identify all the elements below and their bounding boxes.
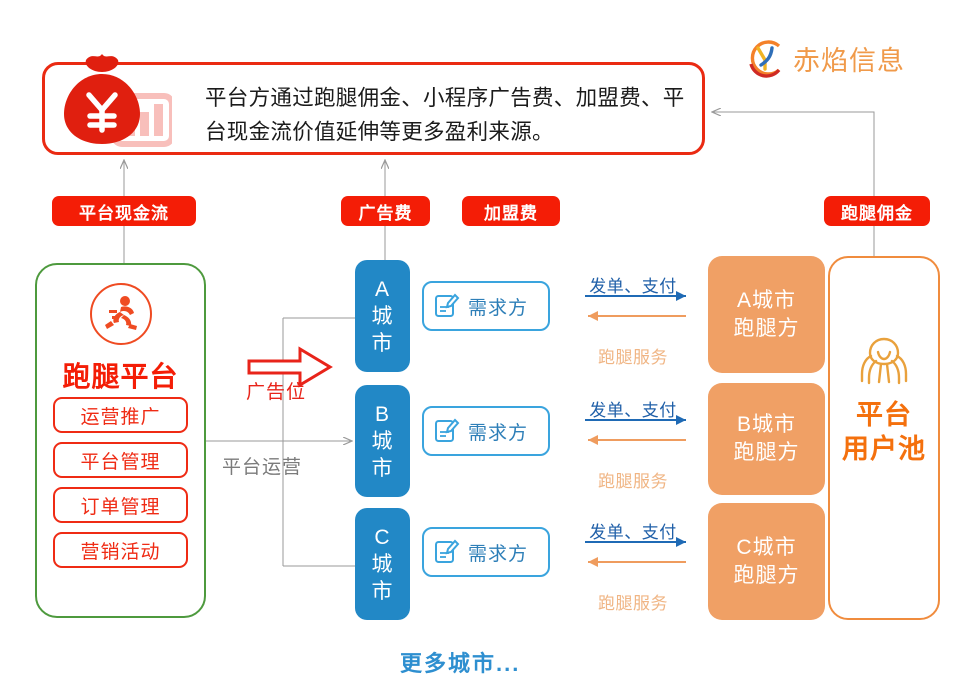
pill-franchise-fee[interactable]: 加盟费 <box>462 196 560 226</box>
ad-slot-label: 广告位 <box>246 377 306 404</box>
user-pool-title-line1: 平台 <box>830 398 938 432</box>
exchange-group-b: 发单、支付 跑腿服务 <box>578 396 688 492</box>
platform-operation-label: 平台运营 <box>222 452 302 479</box>
errand-service-label: 跑腿服务 <box>578 343 688 368</box>
city-box-b[interactable]: B 城 市 <box>355 385 410 497</box>
document-edit-icon <box>434 418 460 444</box>
city-letter: C <box>374 524 390 551</box>
city-char-2: 市 <box>372 578 394 605</box>
demand-side-box-b[interactable]: 需求方 <box>422 406 550 456</box>
demand-side-label: 需求方 <box>468 418 528 445</box>
diagram-canvas: 赤焰信息 平台方通过跑腿佣金、小程序广告费、加盟费、平台现金流价值延伸等更多盈利… <box>0 0 964 686</box>
pill-errand-commission[interactable]: 跑腿佣金 <box>824 196 930 226</box>
city-char-2: 市 <box>372 455 394 482</box>
document-edit-icon <box>434 293 460 319</box>
arrow-commission-to-summary <box>712 112 874 196</box>
platform-item-platform-management[interactable]: 平台管理 <box>53 442 188 478</box>
order-payment-label: 发单、支付 <box>578 272 688 297</box>
city-box-c[interactable]: C 城 市 <box>355 508 410 620</box>
demand-side-box-c[interactable]: 需求方 <box>422 527 550 577</box>
courier-role: 跑腿方 <box>734 562 800 590</box>
city-letter: A <box>375 276 390 303</box>
more-cities-label: 更多城市... <box>400 646 520 678</box>
demand-side-label: 需求方 <box>468 539 528 566</box>
pill-platform-cashflow[interactable]: 平台现金流 <box>52 196 196 226</box>
revenue-summary-text: 平台方通过跑腿佣金、小程序广告费、加盟费、平台现金流价值延伸等更多盈利来源。 <box>205 81 700 149</box>
chiyan-swoosh-logo-icon <box>745 38 785 78</box>
user-group-icon <box>854 336 914 388</box>
city-letter: B <box>375 401 390 428</box>
user-pool-title: 平台 用户池 <box>830 398 938 466</box>
document-edit-icon <box>434 539 460 565</box>
demand-side-label: 需求方 <box>468 293 528 320</box>
errand-platform-box: 跑腿平台 运营推广 平台管理 订单管理 营销活动 <box>35 263 206 618</box>
running-courier-icon <box>99 292 143 336</box>
city-char-1: 城 <box>372 303 394 330</box>
platform-item-order-management[interactable]: 订单管理 <box>53 487 188 523</box>
courier-role: 跑腿方 <box>734 315 800 343</box>
exchange-group-c: 发单、支付 跑腿服务 <box>578 518 688 614</box>
order-payment-label: 发单、支付 <box>578 396 688 421</box>
courier-box-c[interactable]: C城市 跑腿方 <box>708 503 825 620</box>
logo-text: 赤焰信息 <box>793 39 905 78</box>
platform-item-marketing-campaign[interactable]: 营销活动 <box>53 532 188 568</box>
city-char-1: 城 <box>372 551 394 578</box>
platform-user-pool-box: 平台 用户池 <box>828 256 940 620</box>
errand-service-label: 跑腿服务 <box>578 467 688 492</box>
pill-advertising-fee[interactable]: 广告费 <box>341 196 430 226</box>
errand-service-label: 跑腿服务 <box>578 589 688 614</box>
order-payment-label: 发单、支付 <box>578 518 688 543</box>
courier-role: 跑腿方 <box>734 439 800 467</box>
city-box-a[interactable]: A 城 市 <box>355 260 410 372</box>
courier-city: B城市 <box>737 411 796 439</box>
platform-item-operation-promotion[interactable]: 运营推广 <box>53 397 188 433</box>
exchange-group-a: 发单、支付 跑腿服务 <box>578 272 688 368</box>
money-bag-yuan-icon <box>62 46 172 158</box>
courier-city: C城市 <box>736 534 796 562</box>
demand-side-box-a[interactable]: 需求方 <box>422 281 550 331</box>
brand-logo: 赤焰信息 <box>745 38 905 78</box>
courier-box-b[interactable]: B城市 跑腿方 <box>708 383 825 495</box>
courier-city: A城市 <box>737 287 796 315</box>
city-char-1: 城 <box>372 428 394 455</box>
platform-feature-list: 运营推广 平台管理 订单管理 营销活动 <box>53 397 188 577</box>
city-char-2: 市 <box>372 330 394 357</box>
user-pool-title-line2: 用户池 <box>830 432 938 466</box>
platform-title: 跑腿平台 <box>37 355 204 395</box>
courier-box-a[interactable]: A城市 跑腿方 <box>708 256 825 373</box>
platform-icon-ring <box>90 283 152 345</box>
